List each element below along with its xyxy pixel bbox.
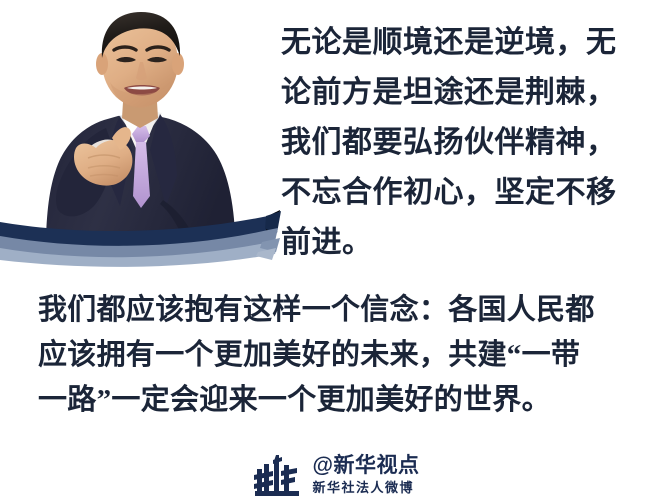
quote-line-5: 前进。: [281, 218, 661, 268]
paragraph-text-block: 我们都应该抱有这样一个信念：各国人民都 应该拥有一个更加美好的未来，共建“一带 …: [38, 288, 646, 423]
paragraph-line-2: 应该拥有一个更加美好的未来，共建“一带: [38, 333, 646, 378]
account-subtitle: 新华社法人微博: [313, 481, 420, 494]
poster-canvas: 无论是顺境还是逆境，无 论前方是坦途还是荆棘， 我们都要弘扬伙伴精神， 不忘合作…: [0, 0, 670, 504]
brand-text-group: @新华视点 新华社法人微博: [313, 455, 420, 494]
quote-line-4: 不忘合作初心，坚定不移: [281, 168, 661, 218]
quote-line-3: 我们都要弘扬伙伴精神，: [281, 118, 661, 168]
paragraph-line-3: 一路”一定会迎来一个更加美好的世界。: [38, 378, 646, 423]
footer-branding: @新华视点 新华社法人微博: [0, 444, 670, 504]
paragraph-line-1: 我们都应该抱有这样一个信念：各国人民都: [38, 288, 646, 333]
xinhua-logo-icon: [251, 451, 303, 497]
account-name: @新华视点: [313, 455, 420, 476]
quote-line-2: 论前方是坦途还是荆棘，: [281, 68, 661, 118]
quote-text-block: 无论是顺境还是逆境，无 论前方是坦途还是荆棘， 我们都要弘扬伙伴精神， 不忘合作…: [281, 18, 661, 268]
portrait-image: [0, 0, 280, 260]
quote-line-1: 无论是顺境还是逆境，无: [281, 18, 661, 68]
